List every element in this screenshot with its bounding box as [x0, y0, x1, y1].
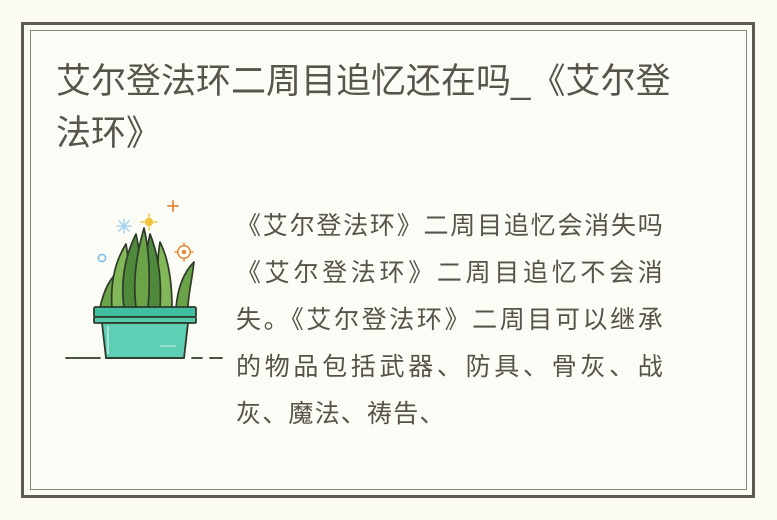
article-content: 《艾尔登法环》二周目追忆会消失吗《艾尔登法环》二周目追忆不会消失。《艾尔登法环》…: [40, 196, 740, 471]
flower-sparkle: [175, 243, 193, 261]
snowflake-sparkle: [117, 219, 131, 233]
pot-rim: [94, 307, 196, 323]
snake-plant-leaves: [100, 228, 194, 308]
circle-sparkle: [98, 254, 105, 261]
plant-pot: [102, 323, 188, 358]
cross-sparkle: [168, 201, 178, 211]
article-body-text: 《艾尔登法环》二周目追忆会消失吗《艾尔登法环》二周目追忆不会消失。《艾尔登法环》…: [236, 202, 664, 437]
article-card-page: 艾尔登法环二周目追忆还在吗_《艾尔登法环》: [0, 0, 777, 520]
plant-illustration: [60, 196, 230, 376]
page-title: 艾尔登法环二周目追忆还在吗_《艾尔登法环》: [56, 56, 696, 160]
